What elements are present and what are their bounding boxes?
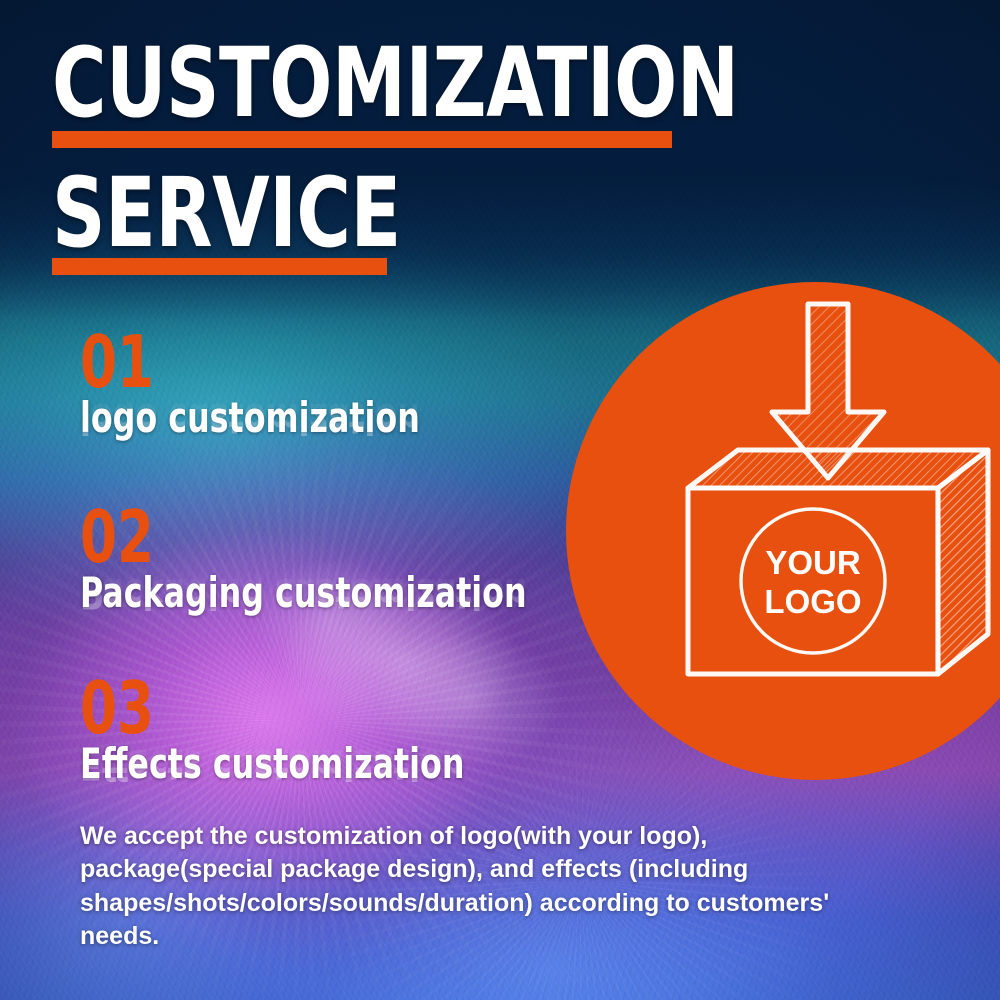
customization-service-banner: CUSTOMIZATION SERVICE 01 logo customizat… bbox=[0, 0, 1000, 1000]
service-item-03-number: 03 bbox=[80, 676, 455, 741]
service-item-01-label-reflection: logo customization bbox=[80, 397, 420, 439]
service-item-02: 02 Packaging customization Packaging cus… bbox=[80, 505, 612, 656]
service-item-01-number: 01 bbox=[80, 330, 412, 395]
your-logo-line-1: YOUR bbox=[765, 544, 861, 581]
title-line-customization: CUSTOMIZATION bbox=[52, 44, 739, 123]
badge-artwork: YOUR LOGO bbox=[566, 282, 1000, 780]
your-logo-line-2: LOGO bbox=[764, 583, 861, 620]
banner-content: CUSTOMIZATION SERVICE 01 logo customizat… bbox=[0, 0, 1000, 1000]
page-title: CUSTOMIZATION SERVICE bbox=[52, 44, 850, 275]
service-item-03: 03 Effects customization Effects customi… bbox=[80, 676, 538, 827]
title-line-service: SERVICE bbox=[52, 174, 739, 253]
service-item-02-number: 02 bbox=[80, 505, 516, 570]
service-item-03-label-reflection: Effects customization bbox=[80, 743, 464, 785]
orange-circle-badge: YOUR LOGO bbox=[566, 282, 1000, 780]
logo-placeholder-circle bbox=[741, 509, 885, 653]
service-item-01: 01 logo customization logo customization bbox=[80, 330, 485, 481]
service-item-02-label-reflection: Packaging customization bbox=[80, 572, 527, 614]
body-paragraph: We accept the customization of logo(with… bbox=[80, 820, 840, 953]
